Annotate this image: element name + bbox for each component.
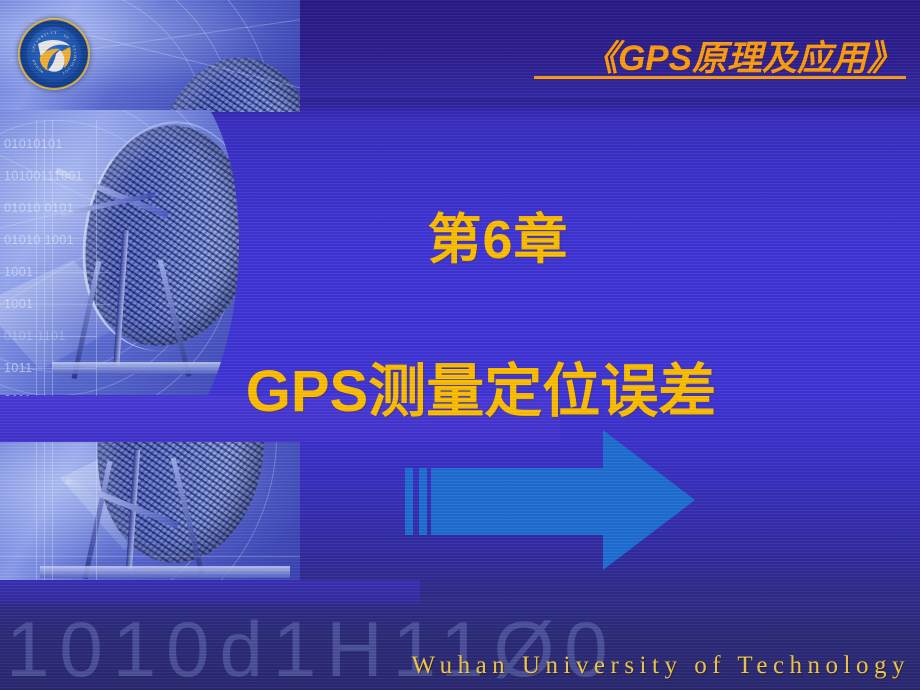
arrow-shaft bbox=[431, 468, 615, 535]
logo-inner-disc: WUHAN UNIVERSITY OF TECHNOLOGY bbox=[27, 27, 81, 81]
dish-base-platform bbox=[40, 566, 290, 578]
university-logo: WUHAN UNIVERSITY OF TECHNOLOGY bbox=[18, 18, 90, 90]
grid-line-horizontal bbox=[0, 304, 110, 305]
logo-ring-text: WUHAN UNIVERSITY OF TECHNOLOGY bbox=[27, 27, 81, 81]
subject-heading: GPS测量定位误差 bbox=[0, 344, 920, 428]
subject-heading-text: GPS测量定位误差 bbox=[246, 344, 717, 428]
course-title-underline bbox=[534, 76, 906, 79]
arrow-tail-tick bbox=[419, 468, 427, 535]
footer-university-name: Wuhan University of Technology bbox=[411, 652, 910, 680]
arrow-tail-tick bbox=[405, 468, 413, 535]
accent-band-lower bbox=[0, 580, 420, 604]
grid-line-horizontal bbox=[0, 556, 300, 557]
chapter-heading: 第6章 bbox=[0, 195, 920, 274]
arrow-head bbox=[603, 430, 695, 570]
presentation-slide: 01010101 10100111001 01010 0101 01010 10… bbox=[0, 0, 920, 690]
satellite-dish-collage bbox=[0, 0, 360, 600]
course-title: 《GPS原理及应用》 bbox=[583, 30, 902, 81]
chapter-heading-text: 第6章 bbox=[427, 195, 568, 274]
grid-line-horizontal bbox=[0, 336, 96, 337]
collage-panel-lower bbox=[0, 440, 300, 585]
right-arrow-icon bbox=[385, 430, 715, 570]
